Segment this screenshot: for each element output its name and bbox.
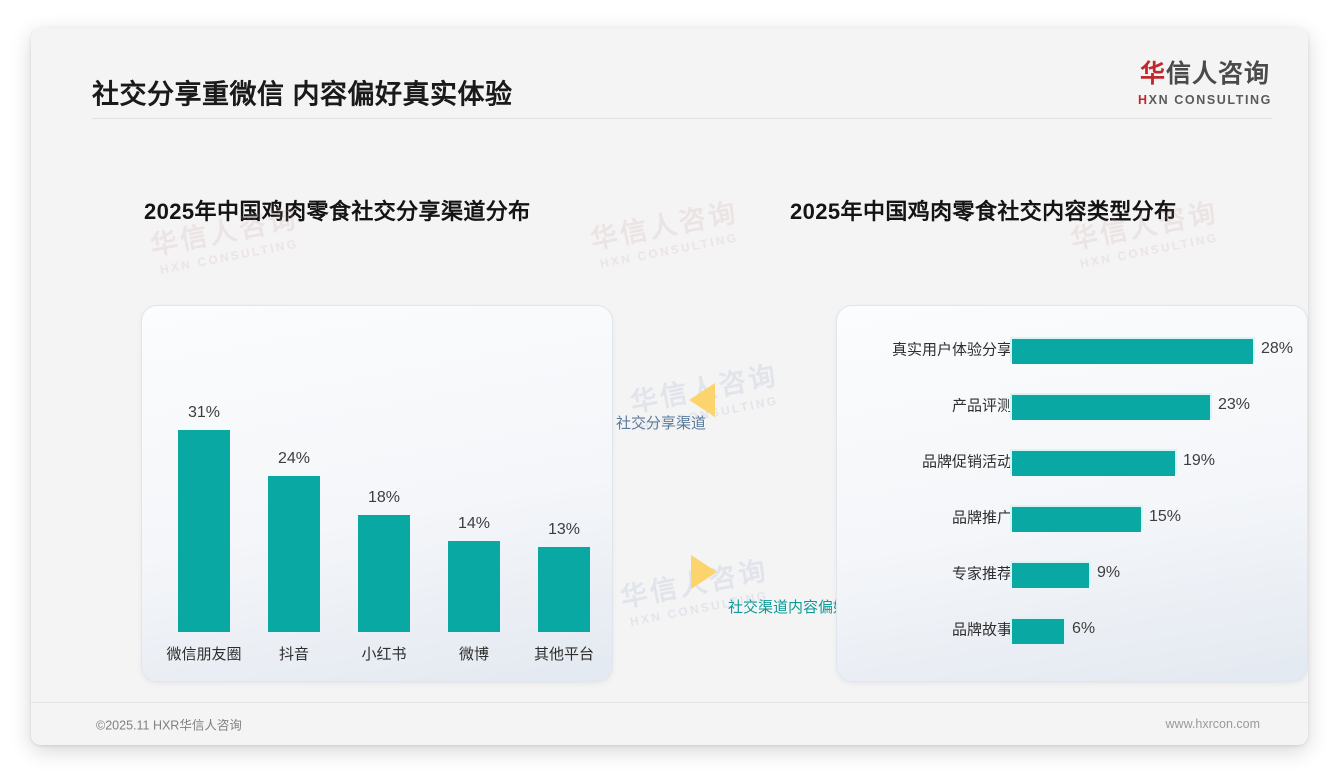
horizontal-bar-row: 专家推荐9%	[837, 558, 1307, 588]
horizontal-bar	[1012, 451, 1175, 476]
middle-label-channels: 社交分享渠道	[616, 412, 706, 433]
horizontal-bar-row: 品牌促销活动19%	[837, 446, 1307, 476]
bar-category-label: 其他平台	[534, 643, 594, 664]
bar-value-label: 15%	[1149, 508, 1181, 526]
slide-card: 社交分享重微信 内容偏好真实体验 华信人咨询 HXN CONSULTING 20…	[31, 28, 1308, 745]
bar-value-label: 18%	[368, 489, 400, 507]
horizontal-bar-chart: 真实用户体验分享28%产品评测23%品牌促销活动19%品牌推广15%专家推荐9%…	[837, 306, 1307, 681]
vertical-bar	[448, 541, 500, 632]
watermark-cn: 华信人咨询	[588, 196, 742, 258]
left-chart-panel: 31%微信朋友圈24%抖音18%小红书14%微博13%其他平台	[141, 305, 613, 682]
bar-value-label: 14%	[458, 515, 490, 533]
vertical-bar	[358, 515, 410, 632]
right-chart-panel: 真实用户体验分享28%产品评测23%品牌促销活动19%品牌推广15%专家推荐9%…	[836, 305, 1308, 682]
watermark-en: HXN CONSULTING	[154, 235, 304, 278]
footer-copyright: ©2025.11 HXR华信人咨询	[96, 715, 242, 734]
horizontal-bar-row: 产品评测23%	[837, 390, 1307, 420]
vertical-bar-group: 14%微博	[448, 541, 500, 632]
bar-value-label: 24%	[278, 450, 310, 468]
vertical-bar	[268, 476, 320, 632]
triangle-right-icon	[691, 555, 717, 589]
bar-category-label: 产品评测	[952, 395, 1012, 416]
bar-category-label: 微博	[459, 643, 489, 664]
bar-value-label: 23%	[1218, 396, 1250, 414]
horizontal-bar	[1012, 507, 1141, 532]
horizontal-bar	[1012, 395, 1210, 420]
bar-value-label: 9%	[1097, 564, 1120, 582]
logo-english-first-char: H	[1138, 93, 1149, 107]
logo-chinese-first-char: 华	[1140, 60, 1166, 88]
horizontal-bar	[1012, 563, 1089, 588]
watermark-en: HXN CONSULTING	[594, 229, 744, 272]
logo-english-rest: XN CONSULTING	[1149, 93, 1272, 107]
bar-value-label: 13%	[548, 521, 580, 539]
company-logo: 华信人咨询 HXN CONSULTING	[1138, 62, 1272, 107]
bar-category-label: 品牌促销活动	[922, 451, 1012, 472]
footer-website: www.hxrcon.com	[1166, 717, 1260, 731]
bar-category-label: 小红书	[361, 643, 406, 664]
horizontal-bar-row: 真实用户体验分享28%	[837, 334, 1307, 364]
vertical-bar-chart: 31%微信朋友圈24%抖音18%小红书14%微博13%其他平台	[142, 306, 612, 681]
horizontal-bar-row: 品牌推广15%	[837, 502, 1307, 532]
left-chart-title: 2025年中国鸡肉零食社交分享渠道分布	[144, 194, 531, 226]
vertical-bar	[538, 547, 590, 632]
page-title: 社交分享重微信 内容偏好真实体验	[92, 73, 513, 112]
horizontal-bar-row: 品牌故事6%	[837, 614, 1307, 644]
vertical-bar	[178, 430, 230, 632]
logo-chinese-rest: 信人咨询	[1166, 60, 1270, 88]
vertical-bar-group: 24%抖音	[268, 476, 320, 632]
right-chart-title: 2025年中国鸡肉零食社交内容类型分布	[790, 194, 1177, 226]
bar-category-label: 真实用户体验分享	[892, 339, 1012, 360]
bar-category-label: 品牌推广	[952, 507, 1012, 528]
bar-category-label: 微信朋友圈	[166, 643, 241, 664]
middle-label-content: 社交渠道内容偏好	[728, 596, 848, 617]
bar-category-label: 品牌故事	[952, 619, 1012, 640]
logo-english-text: HXN CONSULTING	[1138, 94, 1272, 107]
vertical-bar-group: 13%其他平台	[538, 547, 590, 632]
horizontal-bar	[1012, 339, 1253, 364]
watermark: 华信人咨询 HXN CONSULTING	[588, 196, 745, 272]
vertical-bar-group: 18%小红书	[358, 515, 410, 632]
bar-value-label: 28%	[1261, 340, 1293, 358]
bar-value-label: 19%	[1183, 452, 1215, 470]
header-divider	[92, 118, 1272, 119]
horizontal-bar	[1012, 619, 1064, 644]
bar-category-label: 抖音	[279, 643, 309, 664]
slide-header: 社交分享重微信 内容偏好真实体验 华信人咨询 HXN CONSULTING	[31, 28, 1308, 118]
vertical-bar-group: 31%微信朋友圈	[178, 430, 230, 632]
slide-footer: ©2025.11 HXR华信人咨询 www.hxrcon.com	[31, 702, 1308, 745]
bar-value-label: 31%	[188, 404, 220, 422]
logo-chinese-text: 华信人咨询	[1138, 62, 1272, 87]
bar-category-label: 专家推荐	[952, 563, 1012, 584]
bar-value-label: 6%	[1072, 620, 1095, 638]
watermark-en: HXN CONSULTING	[1074, 229, 1224, 272]
